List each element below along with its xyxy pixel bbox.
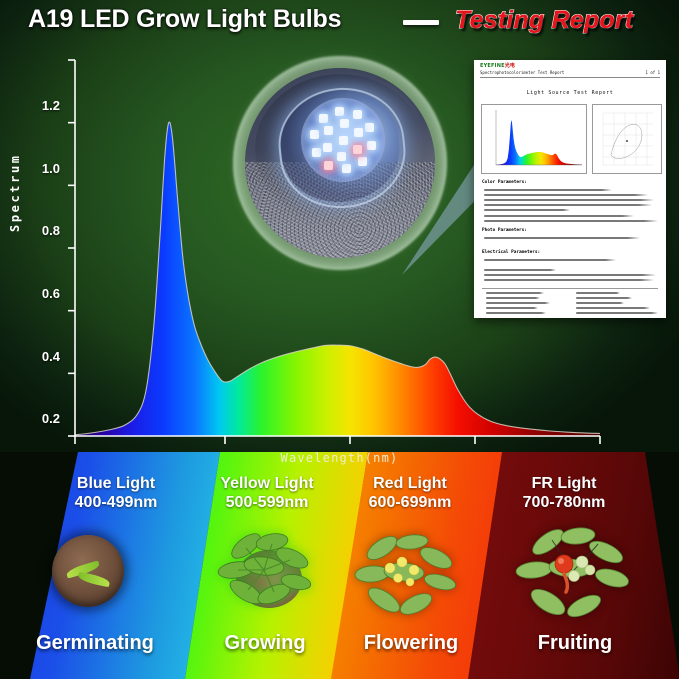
led-dot (365, 123, 374, 132)
title-separator-dash (403, 20, 439, 25)
report-title: Light Source Test Report (474, 90, 666, 96)
report-brand-logo: EYEFINE光电 (480, 62, 515, 69)
report-cie-minichart (592, 104, 662, 174)
header: A19 LED Grow Light Bulbs Testing Report (0, 0, 679, 46)
y-tick-1.0: 1.0 (16, 161, 60, 176)
plant-fruiting (512, 518, 634, 632)
light-band-section: Blue Light 400-499nm Yellow Light 500-59… (0, 452, 679, 679)
report-section-photo: Photo Parameters: (482, 228, 527, 233)
stage-label-flowering: Flowering (326, 632, 496, 655)
report-section-color: Color Parameters: (482, 180, 527, 185)
y-tick-0.8: 0.8 (16, 223, 60, 238)
led-bulb-photo (245, 68, 435, 258)
led-dot (339, 136, 348, 145)
report-brand-suffix: 光电 (505, 63, 515, 69)
led-dot (340, 119, 349, 128)
stage-label-fruiting: Fruiting (490, 632, 660, 655)
infographic-root: A19 LED Grow Light Bulbs Testing Report (0, 0, 679, 679)
plant-flowering (352, 524, 460, 628)
report-chart-row (481, 104, 659, 172)
band-range-fr: 700-780nm (470, 493, 658, 512)
report-footer-divider (482, 288, 658, 289)
led-dot (354, 128, 363, 137)
led-dot (353, 145, 362, 154)
led-dot (312, 148, 321, 157)
testing-report-badge: Testing Report (455, 6, 633, 35)
y-tick-0.6: 0.6 (16, 286, 60, 301)
led-dot (324, 161, 333, 170)
report-section-electrical: Electrical Parameters: (482, 250, 540, 255)
led-dot (323, 143, 332, 152)
led-dot (367, 141, 376, 150)
led-dot (358, 157, 367, 166)
report-header-left: Spectrophotocolorimeter Test Report (480, 70, 564, 75)
report-spectrum-minichart (481, 104, 587, 174)
stage-label-germinating: Germinating (10, 632, 180, 655)
stage-label-growing: Growing (180, 632, 350, 655)
bulb-led-array (301, 98, 385, 182)
led-dot (335, 107, 344, 116)
led-dot (310, 130, 319, 139)
led-dot (319, 114, 328, 123)
led-dot (324, 126, 333, 135)
y-tick-0.2: 0.2 (16, 411, 60, 426)
led-dot (337, 152, 346, 161)
band-name-fr: FR Light (470, 474, 658, 493)
plant-growing (212, 520, 318, 626)
x-axis-label: Wavelength(nm) (0, 451, 679, 465)
report-header-row: Spectrophotocolorimeter Test Report 1 of… (480, 70, 660, 78)
band-label-fr: FR Light 700-780nm (470, 474, 658, 512)
y-tick-1.2: 1.2 (16, 98, 60, 113)
report-header-right: 1 of 1 (646, 70, 660, 75)
y-tick-0.4: 0.4 (16, 349, 60, 364)
plant-seedling (52, 535, 124, 607)
led-dot (353, 110, 362, 119)
test-report-document: EYEFINE光电 Spectrophotocolorimeter Test R… (474, 60, 666, 318)
led-dot (342, 164, 351, 173)
page-title: A19 LED Grow Light Bulbs (28, 5, 341, 34)
